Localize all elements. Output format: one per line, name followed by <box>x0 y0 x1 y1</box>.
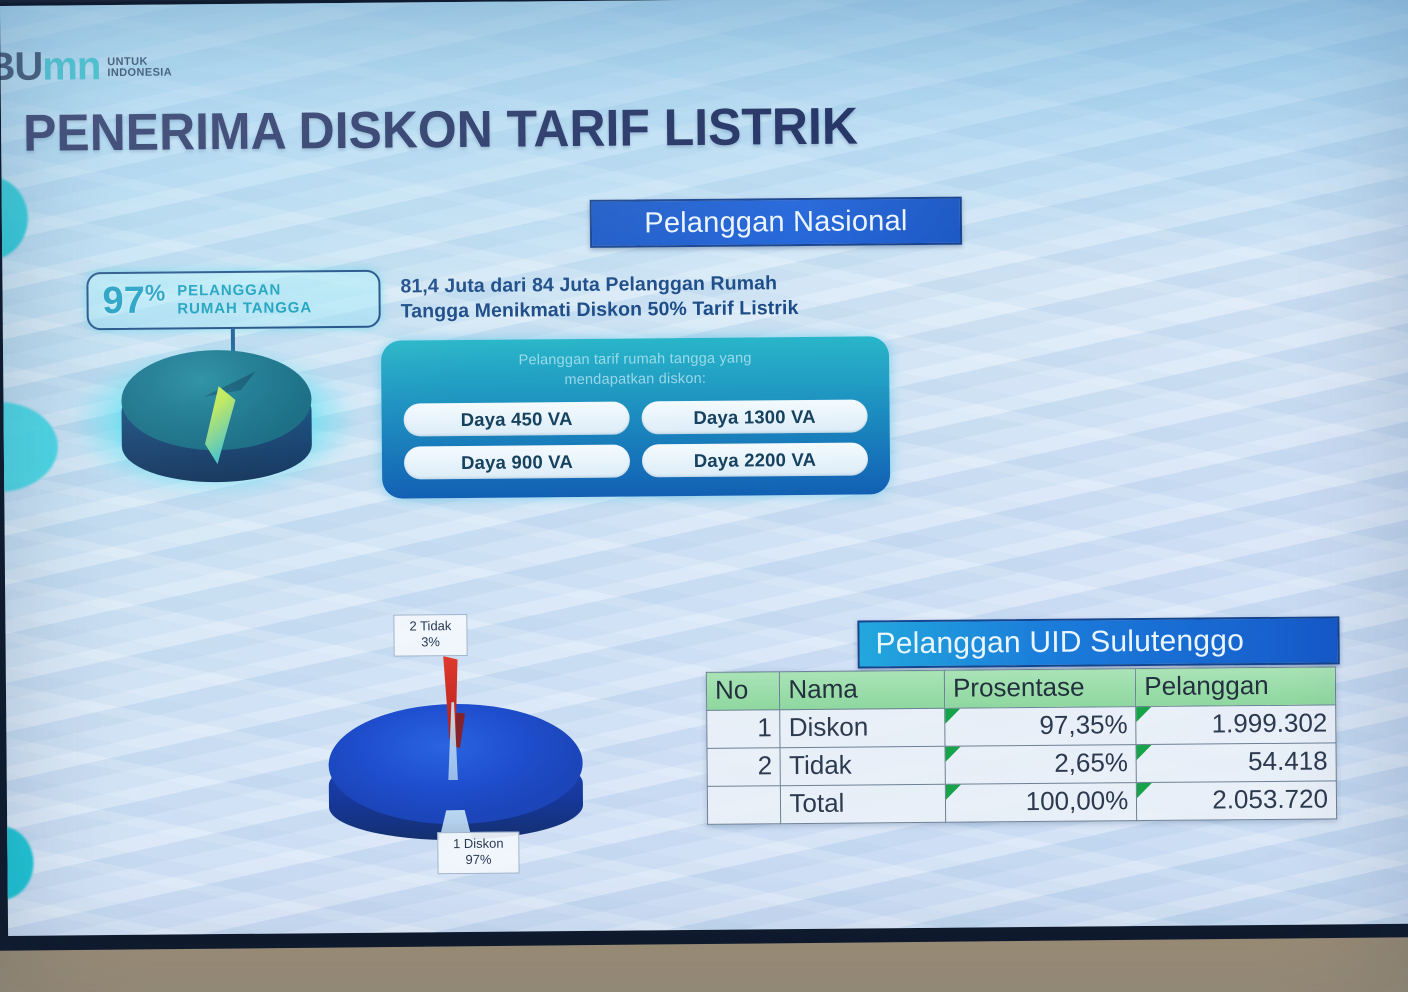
decorative-teal-splash <box>0 402 58 493</box>
badge-percent-number: 97 <box>102 280 145 322</box>
table-pelanggan-uid: No Nama Prosentase Pelanggan 1 Diskon 97… <box>706 666 1337 824</box>
comment-marker-icon <box>946 747 961 762</box>
cell-pelanggan-1-value: 1.999.302 <box>1212 707 1328 738</box>
logo-text-mn: mn <box>42 44 100 89</box>
daya-chip-2200[interactable]: Daya 2200 VA <box>642 443 868 478</box>
pie-label-diskon: 1 Diskon 97% <box>437 832 519 874</box>
pie-label-tidak: 2 Tidak 3% <box>393 614 467 656</box>
badge-label-line1: PELANGGAN <box>177 282 312 301</box>
comment-marker-icon <box>946 785 961 800</box>
banner-pelanggan-nasional-label: Pelanggan Nasional <box>644 205 907 240</box>
photographed-screen-scene: BUmn UNTUK INDONESIA PENERIMA DISKON TAR… <box>0 0 1408 992</box>
decorative-teal-circle <box>0 176 28 261</box>
table-header-prosentase: Prosentase <box>944 669 1136 709</box>
badge-percent-symbol: % <box>145 280 166 306</box>
pie-chart-sulutenggo <box>306 641 608 844</box>
pie-label-diskon-value: 97% <box>447 852 509 869</box>
cell-pelanggan-2-value: 54.418 <box>1248 745 1328 776</box>
headline-text: 81,4 Juta dari 84 Juta Pelanggan Rumah T… <box>400 270 890 325</box>
cell-prosentase-1-value: 97,35% <box>1039 709 1127 740</box>
card-daya-caption-line2: mendapatkan diskon: <box>403 368 867 392</box>
cell-nama-total: Total <box>781 784 946 823</box>
pie-chart-national <box>63 323 365 516</box>
card-daya-options: Pelanggan tarif rumah tangga yang mendap… <box>381 336 890 498</box>
table-header-row: No Nama Prosentase Pelanggan <box>706 667 1335 710</box>
daya-chip-900[interactable]: Daya 900 VA <box>404 445 630 480</box>
cell-prosentase-1: 97,35% <box>945 707 1137 747</box>
table-wrapper: No Nama Prosentase Pelanggan 1 Diskon 97… <box>706 666 1337 824</box>
headline-line-2: Tangga Menikmati Diskon 50% Tarif Listri… <box>401 296 891 326</box>
pie-label-tidak-value: 3% <box>404 634 458 651</box>
table-row-total: Total 100,00% 2.053.720 <box>707 781 1336 824</box>
banner-pelanggan-uid-label: Pelanggan UID Sulutenggo <box>875 624 1244 661</box>
presentation-slide: BUmn UNTUK INDONESIA PENERIMA DISKON TAR… <box>0 0 1408 936</box>
table-body: 1 Diskon 97,35% 1.999.302 2 Tidak 2,65% … <box>707 705 1337 824</box>
cell-no-total <box>707 786 781 825</box>
banner-pelanggan-nasional: Pelanggan Nasional <box>590 197 962 248</box>
logo-wordmark: BUmn <box>0 49 100 84</box>
cell-pelanggan-total-value: 2.053.720 <box>1212 783 1328 814</box>
pie-label-tidak-name: 2 Tidak <box>403 618 457 635</box>
logo-tagline: UNTUK INDONESIA <box>107 57 172 84</box>
cell-prosentase-total-value: 100,00% <box>1026 785 1129 816</box>
cell-nama-1: Diskon <box>780 708 945 747</box>
cell-prosentase-2: 2,65% <box>945 745 1137 785</box>
slide-title: PENERIMA DISKON TARIF LISTRIK <box>23 97 858 164</box>
comment-marker-icon <box>1137 745 1152 760</box>
cell-prosentase-total: 100,00% <box>945 783 1137 823</box>
logo-tagline-line2: INDONESIA <box>107 68 172 80</box>
daya-chip-1300[interactable]: Daya 1300 VA <box>641 400 867 435</box>
logo-text-bu: BU <box>0 45 43 89</box>
table-header-pelanggan: Pelanggan <box>1136 667 1336 707</box>
daya-chip-450[interactable]: Daya 450 VA <box>403 402 629 437</box>
table-head: No Nama Prosentase Pelanggan <box>706 667 1335 710</box>
card-daya-caption: Pelanggan tarif rumah tangga yang mendap… <box>403 348 867 391</box>
pie-label-diskon-name: 1 Diskon <box>447 836 509 853</box>
comment-marker-icon <box>1137 783 1152 798</box>
badge-label-line2: RUMAH TANGGA <box>177 299 312 318</box>
table-header-nama: Nama <box>780 670 945 709</box>
cell-pelanggan-2: 54.418 <box>1136 743 1336 783</box>
bumn-logo: BUmn UNTUK INDONESIA <box>0 49 172 85</box>
comment-marker-icon <box>945 709 960 724</box>
cell-no-1: 1 <box>707 710 781 749</box>
comment-marker-icon <box>1137 707 1152 722</box>
table-row: 2 Tidak 2,65% 54.418 <box>707 743 1336 786</box>
cell-prosentase-2-value: 2,65% <box>1054 747 1128 778</box>
badge-percent-value: 97% <box>102 282 165 321</box>
cell-pelanggan-total: 2.053.720 <box>1137 781 1337 821</box>
banner-pelanggan-uid-sulutenggo: Pelanggan UID Sulutenggo <box>857 616 1339 668</box>
cell-nama-2: Tidak <box>780 746 945 785</box>
badge-label: PELANGGAN RUMAH TANGGA <box>177 282 312 319</box>
table-row: 1 Diskon 97,35% 1.999.302 <box>707 705 1336 748</box>
cell-pelanggan-1: 1.999.302 <box>1136 705 1336 745</box>
badge-97-percent: 97% PELANGGAN RUMAH TANGGA <box>86 270 380 331</box>
cell-no-2: 2 <box>707 748 781 787</box>
daya-chip-grid: Daya 450 VA Daya 1300 VA Daya 900 VA Day… <box>403 400 868 480</box>
table-header-no: No <box>706 672 780 711</box>
